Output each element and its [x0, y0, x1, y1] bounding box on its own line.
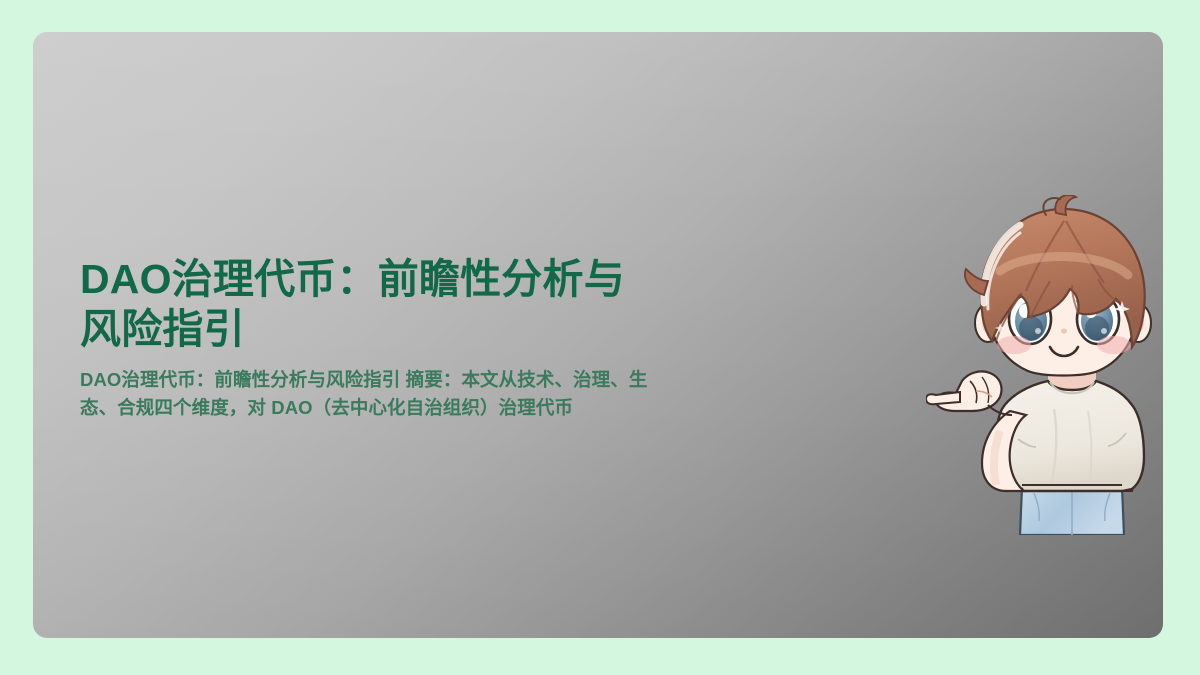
right-blush: [1097, 336, 1131, 354]
page-title: DAO治理代币：前瞻性分析与 风险指引: [80, 254, 800, 354]
slide-text-block: DAO治理代币：前瞻性分析与 风险指引 DAO治理代币：前瞻性分析与风险指引 摘…: [80, 254, 800, 422]
shirt: [995, 381, 1144, 491]
chibi-boy-pointing-illustration: [926, 195, 1163, 535]
slide-subtitle: DAO治理代币：前瞻性分析与风险指引 摘要：本文从技术、治理、生 态、合规四个维…: [80, 366, 800, 422]
character-head: [965, 195, 1151, 376]
pointing-hand: [926, 371, 1026, 491]
slide-card: DAO治理代币：前瞻性分析与 风险指引 DAO治理代币：前瞻性分析与风险指引 摘…: [33, 32, 1163, 638]
left-blush: [997, 336, 1031, 354]
slide-root: DAO治理代币：前瞻性分析与 风险指引 DAO治理代币：前瞻性分析与风险指引 摘…: [0, 0, 1200, 675]
character-body: [926, 361, 1144, 535]
